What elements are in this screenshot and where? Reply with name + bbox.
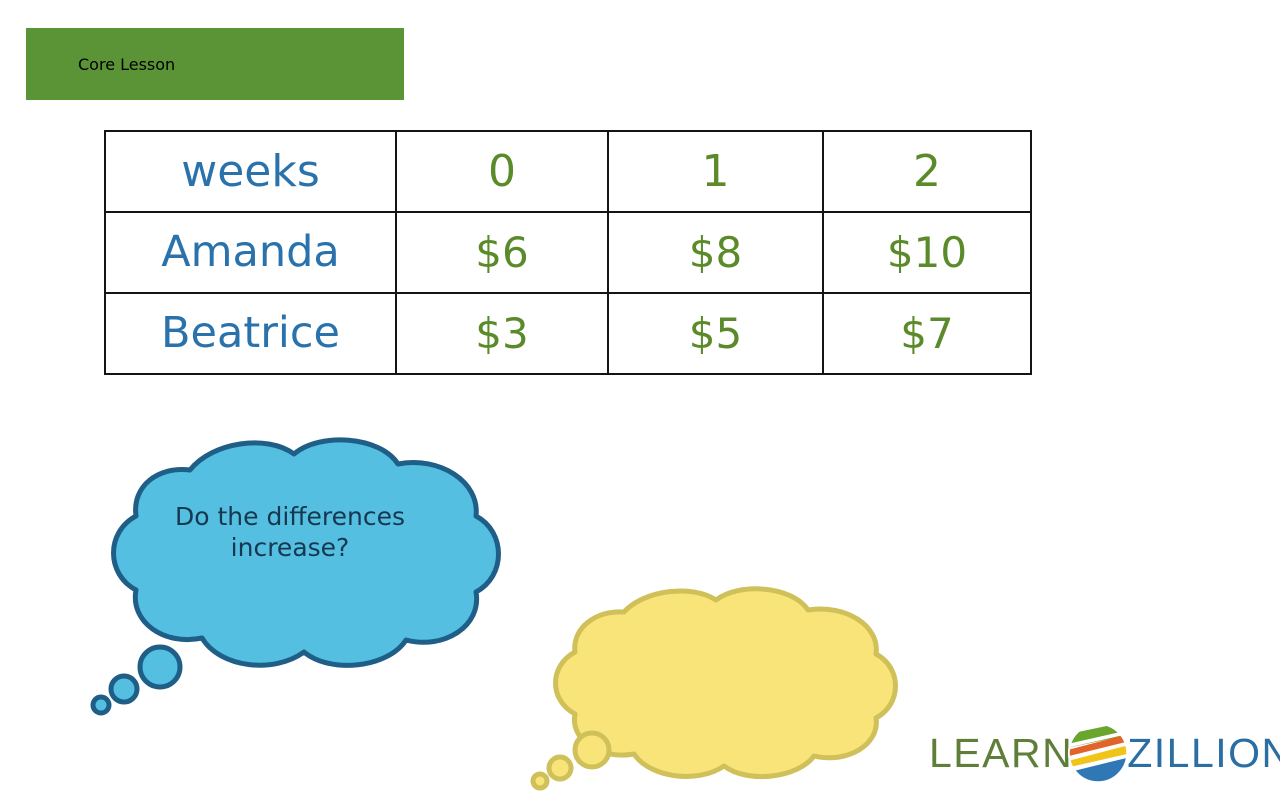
thought-bubble-yellow	[512, 578, 907, 790]
logo-word-zillion: ZILLION	[1127, 733, 1280, 774]
amanda-week-1-cell: $8	[608, 212, 823, 293]
table-row: Amanda $6 $8 $10	[105, 212, 1031, 293]
learnzillion-logo: LEARN ZILLION	[929, 722, 1280, 784]
table-header-label: weeks	[105, 131, 396, 212]
amanda-week-2-cell: $10	[823, 212, 1031, 293]
amanda-week-2-amount: $10	[887, 228, 967, 277]
globe-icon	[1067, 722, 1129, 784]
beatrice-week-1-cell: $5	[608, 293, 823, 374]
beatrice-week-2-amount: $7	[900, 309, 953, 358]
thought-bubble-blue-text: Do the differences increase?	[120, 502, 460, 563]
table-row-header: weeks 0 1 2	[105, 131, 1031, 212]
amanda-week-1-amount: $8	[689, 228, 742, 277]
table-row-label-beatrice: Beatrice	[105, 293, 396, 374]
table-row: Beatrice $3 $5 $7	[105, 293, 1031, 374]
amanda-week-0-cell: $6	[396, 212, 608, 293]
core-lesson-banner-label: Core Lesson	[78, 55, 175, 74]
weeks-savings-table: weeks 0 1 2 Amanda $6 $8 $10	[104, 130, 1032, 375]
week-1-value: 1	[702, 146, 730, 197]
week-2-value: 2	[913, 146, 941, 197]
amanda-week-0-amount: $6	[475, 228, 528, 277]
week-0-value: 0	[488, 146, 516, 197]
table-row-label-amanda: Amanda	[105, 212, 396, 293]
weeks-label: weeks	[181, 146, 320, 197]
table-header-week-1: 1	[608, 131, 823, 212]
beatrice-week-0-amount: $3	[475, 309, 528, 358]
thought-bubble-yellow-shape	[512, 578, 907, 790]
amanda-label: Amanda	[161, 227, 340, 277]
thought-bubble-blue: Do the differences increase?	[62, 424, 512, 714]
core-lesson-banner: Core Lesson	[26, 28, 404, 100]
beatrice-week-2-cell: $7	[823, 293, 1031, 374]
beatrice-week-0-cell: $3	[396, 293, 608, 374]
beatrice-label: Beatrice	[161, 308, 340, 358]
logo-word-learn: LEARN	[929, 733, 1073, 774]
table-header-week-0: 0	[396, 131, 608, 212]
thought-bubble-blue-shape	[62, 424, 512, 714]
table-header-week-2: 2	[823, 131, 1031, 212]
beatrice-week-1-amount: $5	[689, 309, 742, 358]
